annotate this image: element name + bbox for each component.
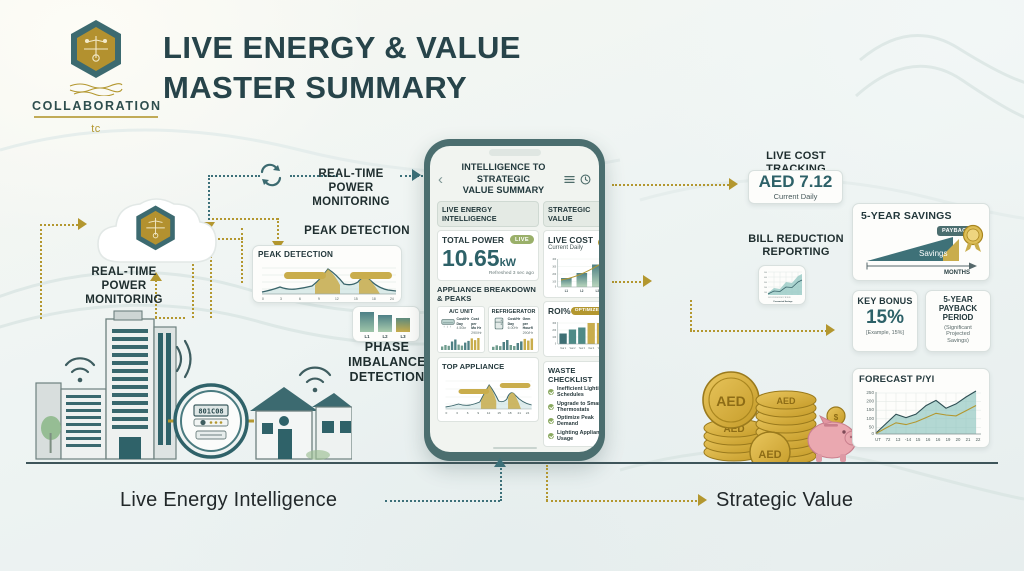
- svg-text:300: 300: [552, 320, 556, 324]
- svg-text:100: 100: [552, 279, 556, 283]
- bill-reduction-line1: BILL REDUCTION: [742, 233, 850, 246]
- clock-icon[interactable]: [580, 174, 591, 185]
- home-indicator: [493, 447, 537, 450]
- refresh-sync-icon: [258, 163, 284, 187]
- svg-text:AED: AED: [758, 449, 781, 461]
- rt-top-line1: REAL-TIME: [296, 168, 406, 182]
- svg-text:15: 15: [497, 412, 501, 416]
- page-title-line2: MASTER SUMMARY: [163, 68, 521, 108]
- key-bonus-note: [Example, 15%]: [857, 330, 913, 336]
- pp-note-line3: Savings): [929, 338, 987, 345]
- check-icon: [548, 404, 554, 410]
- city-scene: 801C08: [22, 295, 352, 465]
- brand-tagline: tc: [32, 123, 160, 135]
- rt-left-line2: POWER: [64, 280, 184, 294]
- svg-text:Year 2: Year 2: [569, 346, 576, 349]
- svg-text:200: 200: [866, 399, 874, 404]
- total-power-unit: kW: [500, 257, 517, 269]
- svg-text:15: 15: [354, 297, 358, 301]
- connector-cloud-to-sync: [208, 175, 260, 177]
- svg-text:L1: L1: [565, 288, 568, 292]
- ac-stat1-value: 4.50kr: [457, 326, 467, 330]
- phone-mockup: ‹ INTELLIGENCE TO STRATEGIC VALUE SUMMAR…: [424, 139, 605, 461]
- connector-phone-to-aed: [612, 184, 732, 186]
- check-icon: [548, 418, 554, 424]
- cloud-icon: [92, 192, 220, 270]
- svg-text:AED: AED: [716, 393, 746, 409]
- svg-text:-14: -14: [905, 437, 912, 442]
- checklist-item[interactable]: Inefficient Lighting Schedules: [548, 386, 599, 398]
- page-title: LIVE ENERGY & VALUE MASTER SUMMARY: [163, 28, 521, 107]
- appliance-cards: A/C UNIT Cost/Hr Day4.50kr Cost per Mo H…: [437, 306, 539, 353]
- peak-detection-card: PEAK DETECTION 036 91215 1824: [252, 245, 402, 303]
- svg-text:10 11 12 13 14 15 16 17 18 19: 10 11 12 13 14 15 16 17 18 19 20: [768, 297, 791, 299]
- rt-top-line2: POWER MONITORING: [296, 182, 406, 210]
- svg-text:0: 0: [555, 341, 557, 345]
- svg-text:200: 200: [552, 271, 556, 275]
- svg-text:AED: AED: [776, 396, 796, 406]
- five-year-savings-card: 5-YEAR SAVINGS Savings MONTHS PAYBACK: [852, 203, 990, 281]
- top-appliance-chart: 036 91215 182124: [442, 373, 534, 417]
- connector-arrow-aed: [729, 178, 738, 190]
- phone-header: ‹ INTELLIGENCE TO STRATEGIC VALUE SUMMAR…: [435, 151, 594, 201]
- checklist-item[interactable]: Optimize Peak Demand: [548, 415, 599, 427]
- svg-text:100: 100: [552, 334, 556, 338]
- connector-arrow-right-teal: [412, 169, 421, 181]
- hexagon-monogram-icon: [68, 18, 124, 80]
- checklist-label: Optimize Peak Demand: [557, 415, 599, 427]
- appliance-card-ac[interactable]: A/C UNIT Cost/Hr Day4.50kr Cost per Mo H…: [437, 306, 485, 353]
- total-power-card: TOTAL POWER LIVE 10.65kW Refreshed 3 sec…: [437, 230, 539, 281]
- key-bonus-card: KEY BONUS 15% [Example, 15%]: [852, 290, 918, 352]
- key-bonus-value: 15%: [857, 308, 913, 328]
- payback-period-title: 5-YEAR PAYBACK PERIOD: [929, 295, 987, 323]
- pp-title-line1: 5-YEAR: [929, 295, 987, 304]
- svg-text:UT: UT: [875, 437, 881, 442]
- checklist-label: Upgrade to Smart Thermostats: [557, 401, 599, 413]
- footer-connector-left: [385, 500, 500, 502]
- svg-text:0: 0: [262, 297, 264, 301]
- svg-text:6: 6: [299, 297, 301, 301]
- label-peak-detection: PEAK DETECTION: [302, 225, 412, 239]
- svg-text:100: 100: [866, 416, 874, 421]
- svg-text:250: 250: [866, 390, 874, 395]
- bill-reduction-line2: REPORTING: [742, 246, 850, 259]
- appliance-title-line1: APPLIANCE BREAKDOWN: [437, 285, 539, 294]
- svg-text:6: 6: [467, 412, 469, 416]
- pp-title-line3: PERIOD: [929, 313, 987, 322]
- phase-bars-chart: L1L2L3: [356, 310, 416, 340]
- phone-title-line1: INTELLIGENCE TO STRATEGIC: [447, 162, 560, 185]
- check-icon: [548, 389, 554, 395]
- roi-chart: 3002001000: [548, 318, 599, 352]
- svg-text:20: 20: [956, 437, 961, 442]
- aed-cost-card: AED 7.12 Current Daily: [748, 170, 843, 204]
- appliance-breakdown-title: APPLIANCE BREAKDOWN & PEAKS: [437, 285, 539, 303]
- connector-gold-left-v: [241, 228, 243, 283]
- pp-note-line2: Projected: [929, 331, 987, 338]
- pp-note-line1: (Significant: [929, 325, 987, 332]
- roi-badge: OPTIMIZED: [571, 307, 599, 315]
- svg-text:9: 9: [477, 412, 479, 416]
- phone-notch: [489, 149, 541, 156]
- svg-text:200: 200: [764, 287, 767, 289]
- svg-text:3: 3: [280, 297, 282, 301]
- svg-text:0: 0: [446, 412, 448, 416]
- live-cost-chart: 400300200 1000: [548, 253, 599, 293]
- fridge-stat1-label: Cost/Hr Day: [508, 317, 521, 326]
- svg-text:300: 300: [764, 282, 767, 284]
- svg-text:300: 300: [552, 264, 556, 268]
- ac-usage-bars: [441, 337, 482, 350]
- appliance-card-refrigerator[interactable]: REFRIGERATOR Cost/Hr Day6.00Hr: [488, 306, 539, 353]
- appliance-name-refrigerator: REFRIGERATOR: [492, 309, 536, 315]
- checklist-label: Lighting Appliance Usage: [557, 430, 599, 442]
- bill-reduction-mini-card: 500400300200100 10 11 12 13 14 15 16 17 …: [758, 265, 806, 305]
- svg-text:16: 16: [936, 437, 941, 442]
- checklist-label: Inefficient Lighting Schedules: [557, 386, 599, 398]
- svg-text:0: 0: [555, 284, 557, 288]
- smart-meter-icon: 801C08: [168, 385, 254, 457]
- phase-imbalance-card: L1L2L3: [352, 306, 420, 342]
- svg-text:18: 18: [372, 297, 376, 301]
- checklist-item[interactable]: Lighting Appliance Usage: [548, 430, 599, 442]
- pi-line1: PHASE: [337, 340, 437, 355]
- check-icon: [548, 433, 554, 439]
- svg-text:801C08: 801C08: [198, 408, 223, 416]
- svg-text:0: 0: [871, 431, 874, 436]
- total-power-value: 10.65: [442, 245, 500, 271]
- connector-gold-top: [212, 218, 278, 220]
- svg-text:L3: L3: [400, 334, 406, 339]
- svg-text:13: 13: [896, 437, 901, 442]
- aed-sublabel: Current Daily: [774, 192, 818, 201]
- live-cost-card: LIVE COST Current Daily 400300200: [543, 230, 599, 298]
- svg-text:22: 22: [976, 437, 981, 442]
- chevron-left-icon[interactable]: ‹: [438, 172, 443, 187]
- svg-text:200: 200: [552, 327, 556, 331]
- connector-arrow-right-cloud: [78, 218, 87, 230]
- svg-text:L3: L3: [596, 288, 599, 292]
- live-cost-title: LIVE COST: [548, 235, 593, 245]
- footer-connector-left-up: [500, 465, 502, 501]
- waste-checklist-card: WASTE CHECKLIST Inefficient Lighting Sch…: [543, 361, 599, 447]
- savings-card-title: 5-YEAR SAVINGS: [861, 210, 981, 222]
- phone-header-icons: [564, 174, 591, 185]
- signal-waves-icon: [177, 341, 191, 377]
- peak-detection-chart: 036 91215 1824: [258, 260, 398, 302]
- pi-line2: IMBALANCE: [337, 355, 437, 370]
- svg-text:9: 9: [318, 297, 320, 301]
- live-energy-column: LIVE ENERGY INTELLIGENCE TOTAL POWER LIV…: [437, 201, 539, 450]
- phone-title-line2: VALUE SUMMARY: [447, 185, 560, 197]
- ac-stat2-label: Cost per Mo Hr: [471, 317, 481, 330]
- label-phase-imbalance-detection: PHASE IMBALANCE DETECTION: [337, 340, 437, 385]
- key-bonus-title: KEY BONUS: [857, 296, 913, 306]
- svg-text:15: 15: [916, 437, 921, 442]
- svg-text:16: 16: [926, 437, 931, 442]
- label-real-time-power-monitoring-top: REAL-TIME POWER MONITORING: [296, 168, 406, 209]
- total-power-value-row: 10.65kW: [442, 246, 534, 270]
- live-energy-band: LIVE ENERGY INTELLIGENCE: [437, 201, 539, 227]
- top-appliance-title: TOP APPLIANCE: [442, 362, 534, 371]
- pp-title-line2: PAYBACK: [929, 304, 987, 313]
- phone-columns: LIVE ENERGY INTELLIGENCE TOTAL POWER LIV…: [435, 201, 594, 450]
- wifi-signal-icon: [66, 358, 94, 382]
- baseline-divider: [26, 462, 998, 464]
- svg-text:$: $: [834, 413, 839, 422]
- svg-text:12: 12: [335, 297, 339, 301]
- savings-axis-label: MONTHS: [944, 270, 970, 275]
- svg-text:Year 1: Year 1: [560, 346, 567, 349]
- house-icon: [250, 387, 352, 460]
- brand-name: COLLABORATION: [32, 99, 160, 113]
- svg-text:Year 4: Year 4: [588, 346, 595, 349]
- payback-period-note: (Significant Projected Savings): [929, 325, 987, 345]
- connector-arrow-bill: [643, 275, 652, 287]
- refreshed-timestamp: Refreshed 3 sec ago: [442, 271, 534, 276]
- svg-text:L2: L2: [580, 288, 583, 292]
- infographic-canvas: COLLABORATION tc LIVE ENERGY & VALUE MAS…: [0, 0, 1024, 571]
- strategic-value-band: STRATEGIC VALUE: [543, 201, 599, 227]
- fridge-stat2-value: 290/Hr: [523, 331, 534, 335]
- wifi-signal-icon-right: [300, 368, 330, 393]
- footer-connector-right: [546, 500, 701, 502]
- pi-line3: DETECTION: [337, 370, 437, 385]
- forecast-title: FORECAST P/Yl: [859, 374, 983, 385]
- phone-screen: ‹ INTELLIGENCE TO STRATEGIC VALUE SUMMAR…: [430, 146, 599, 452]
- svg-text:12: 12: [487, 412, 491, 416]
- phone-title: INTELLIGENCE TO STRATEGIC VALUE SUMMARY: [447, 162, 560, 197]
- roi-title: ROI%: [548, 306, 571, 316]
- page-title-line1: LIVE ENERGY & VALUE: [163, 28, 521, 68]
- ac-stat1-label: Cost/Hr Day: [457, 317, 470, 326]
- svg-text:400: 400: [764, 277, 767, 279]
- svg-text:18: 18: [508, 412, 512, 416]
- footer-connector-right-up: [546, 465, 548, 501]
- brand-logo: COLLABORATION tc: [32, 18, 160, 135]
- top-appliance-card: TOP APPLIANCE: [437, 357, 539, 422]
- svg-text:24: 24: [526, 412, 530, 416]
- svg-text:21: 21: [517, 412, 521, 416]
- forecast-card: FORECAST P/Yl 250200150 100500: [852, 368, 990, 448]
- fridge-stat2-label: Gem per Hourfl: [523, 317, 533, 330]
- svg-text:500: 500: [764, 272, 767, 274]
- svg-text:19: 19: [946, 437, 951, 442]
- footer-arrow-right-gold: [698, 494, 707, 506]
- svg-text:50: 50: [869, 424, 875, 429]
- footer-arrow-up-teal: [494, 458, 506, 467]
- live-badge: LIVE: [510, 235, 534, 244]
- bill-chart-caption: Forecasted Savings: [774, 300, 794, 303]
- footer-label-right: Strategic Value: [716, 489, 853, 512]
- svg-text:3: 3: [456, 412, 458, 416]
- svg-text:24: 24: [390, 297, 394, 301]
- svg-text:72: 72: [886, 437, 891, 442]
- savings-area-label: Savings: [919, 249, 947, 258]
- check-circle-icon: [598, 238, 599, 247]
- hamburger-menu-icon[interactable]: [564, 175, 575, 184]
- appliance-title-line2: & PEAKS: [437, 294, 539, 303]
- svg-text:100: 100: [764, 292, 767, 294]
- svg-text:400: 400: [552, 256, 556, 260]
- award-rosette-icon: [961, 224, 985, 252]
- svg-text:L1: L1: [364, 334, 370, 339]
- connector-coins-vertical: [690, 300, 692, 330]
- total-power-label: TOTAL POWER: [442, 235, 504, 245]
- svg-text:Year 5: Year 5: [598, 346, 599, 349]
- live-cost-sub: Current Daily: [548, 245, 593, 251]
- fridge-usage-bars: [492, 337, 536, 350]
- appliance-name-ac: A/C UNIT: [441, 309, 482, 315]
- waste-checklist-title: WASTE CHECKLIST: [548, 366, 599, 384]
- fridge-stat1-value: 6.00Hr: [508, 326, 519, 330]
- payback-period-card: 5-YEAR PAYBACK PERIOD (Significant Proje…: [925, 290, 991, 352]
- logo-wave-icon: [66, 82, 126, 96]
- checklist-item[interactable]: Upgrade to Smart Thermostats: [548, 401, 599, 413]
- refrigerator-icon: [492, 317, 506, 330]
- label-bill-reduction-reporting: BILL REDUCTION REPORTING: [742, 233, 850, 259]
- roi-card: ROI% OPTIMIZED 3002001000: [543, 301, 599, 357]
- svg-text:L2: L2: [382, 334, 388, 339]
- aed-coin-stack-icon: AED AED AED AED $: [688, 330, 858, 462]
- strategic-value-column: STRATEGIC VALUE LIVE COST Current Daily: [543, 201, 599, 450]
- peak-detection-card-title: PEAK DETECTION: [258, 250, 396, 259]
- footer-label-left: Live Energy Intelligence: [120, 489, 337, 512]
- forecast-chart: 250200150 100500 UT7213 -141516 1: [859, 387, 985, 447]
- svg-text:21: 21: [966, 437, 971, 442]
- aed-value: AED 7.12: [759, 173, 833, 190]
- svg-text:150: 150: [866, 407, 874, 412]
- air-conditioner-icon: [441, 317, 455, 330]
- svg-text:Year 3: Year 3: [579, 346, 586, 349]
- connector-left-horizontal: [40, 224, 82, 226]
- bill-reduction-chart: 500400300200100 10 11 12 13 14 15 16 17 …: [762, 269, 804, 303]
- ac-stat2-value: 290/Hr: [471, 331, 482, 335]
- logo-divider: [34, 116, 158, 118]
